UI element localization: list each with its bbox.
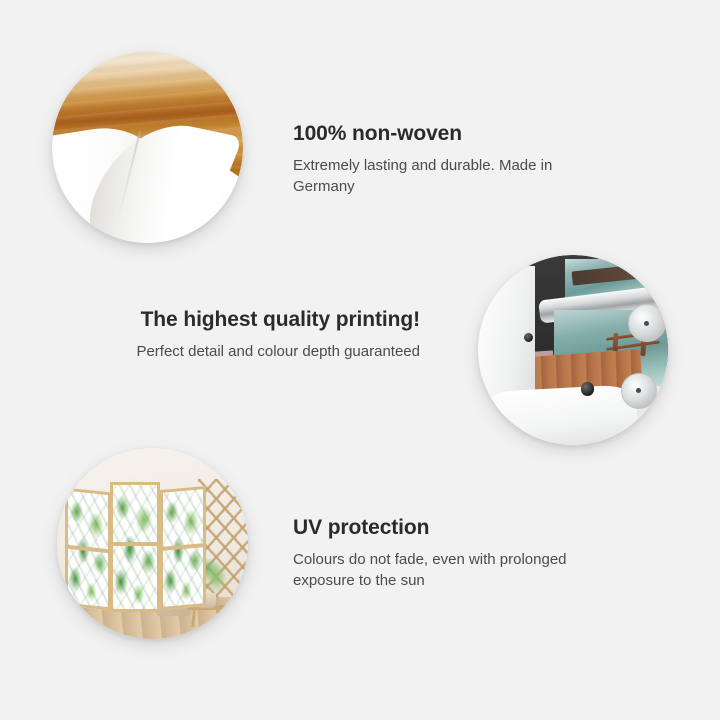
feature-image-non-woven xyxy=(52,52,243,243)
feature-image-uv-protection xyxy=(57,448,248,639)
feature-showcase: 100% non-woven Extremely lasting and dur… xyxy=(0,0,720,720)
press-knob xyxy=(581,382,594,395)
feature-description-uv-protection: Colours do not fade, even with prolonged… xyxy=(293,549,593,592)
peeling-wallpaper-photo xyxy=(52,52,243,243)
feature-image-printing xyxy=(478,255,668,445)
feature-text-uv-protection: UV protection Colours do not fade, even … xyxy=(293,515,593,592)
feature-description-non-woven: Extremely lasting and durable. Made in G… xyxy=(293,155,603,198)
press-front-cover xyxy=(488,384,639,445)
press-wheel xyxy=(621,373,657,409)
divider-panel xyxy=(110,482,160,612)
feature-title-non-woven: 100% non-woven xyxy=(293,121,603,146)
panel-crossbar xyxy=(113,542,157,546)
tropical-room-divider-photo xyxy=(57,448,248,639)
feature-title-uv-protection: UV protection xyxy=(293,515,593,540)
feature-title-printing: The highest quality printing! xyxy=(120,307,420,332)
printing-press-photo xyxy=(478,255,668,445)
feature-text-non-woven: 100% non-woven Extremely lasting and dur… xyxy=(293,121,603,198)
divider-panel xyxy=(160,486,206,610)
feature-text-printing: The highest quality printing! Perfect de… xyxy=(120,307,420,362)
leaf-veins xyxy=(113,485,157,609)
feature-description-printing: Perfect detail and colour depth guarante… xyxy=(120,341,420,362)
divider-panel xyxy=(65,488,111,611)
